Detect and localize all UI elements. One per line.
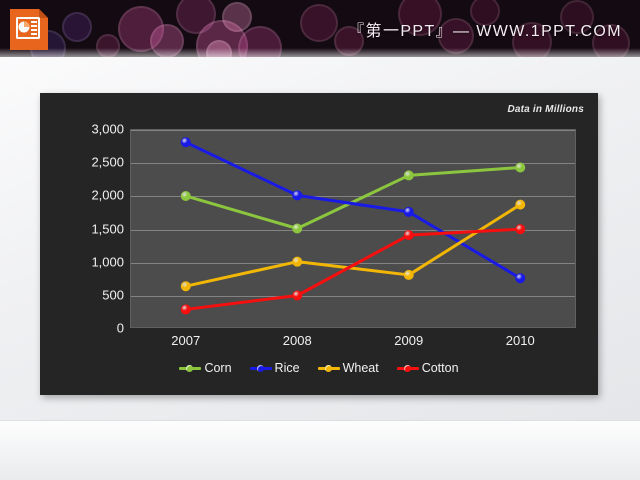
legend-label: Rice xyxy=(275,361,300,375)
legend-item-wheat[interactable]: Wheat xyxy=(318,361,379,375)
series-corn xyxy=(181,163,525,233)
series-line xyxy=(186,167,521,228)
data-point-marker[interactable] xyxy=(516,163,525,172)
data-point-marker[interactable] xyxy=(404,231,413,240)
data-point-marker[interactable] xyxy=(181,282,190,291)
data-point-marker[interactable] xyxy=(293,257,302,266)
y-axis-tick-label: 1,000 xyxy=(44,254,124,269)
data-point-marker[interactable] xyxy=(516,225,525,234)
chart-series-layer xyxy=(130,129,576,328)
data-point-marker[interactable] xyxy=(293,191,302,200)
legend-swatch-icon xyxy=(318,363,340,373)
data-point-marker[interactable] xyxy=(293,291,302,300)
legend-label: Cotton xyxy=(422,361,459,375)
data-point-marker[interactable] xyxy=(404,171,413,180)
legend-swatch-icon xyxy=(179,363,201,373)
y-axis-tick-label: 2,500 xyxy=(44,155,124,170)
x-axis-tick-label: 2007 xyxy=(171,333,200,348)
legend-item-rice[interactable]: Rice xyxy=(250,361,300,375)
data-point-marker[interactable] xyxy=(181,138,190,147)
chart-legend: CornRiceWheatCotton xyxy=(40,361,598,375)
y-axis-tick-label: 500 xyxy=(44,287,124,302)
powerpoint-logo-icon xyxy=(8,7,50,52)
y-axis-tick-label: 2,000 xyxy=(44,188,124,203)
legend-item-cotton[interactable]: Cotton xyxy=(397,361,459,375)
bokeh-circle xyxy=(222,2,252,32)
y-axis: 05001,0001,5002,0002,5003,000 xyxy=(40,129,124,328)
header-title: 『第一PPT』— WWW.1PPT.COM xyxy=(348,17,622,41)
bokeh-circle xyxy=(176,0,216,34)
data-point-marker[interactable] xyxy=(181,305,190,314)
x-axis-tick-label: 2009 xyxy=(394,333,423,348)
chart-watermark: Data in Millions xyxy=(507,104,584,115)
legend-swatch-icon xyxy=(250,363,272,373)
header-sheen xyxy=(0,48,640,57)
bokeh-circle xyxy=(118,6,164,52)
x-axis-tick-label: 2010 xyxy=(506,333,535,348)
legend-label: Corn xyxy=(204,361,231,375)
y-axis-tick-label: 1,500 xyxy=(44,221,124,236)
data-point-marker[interactable] xyxy=(404,270,413,279)
legend-swatch-icon xyxy=(397,363,419,373)
footer-banner: 第一PPT HTTP://WWW.1PPT.COM xyxy=(0,420,640,480)
legend-item-corn[interactable]: Corn xyxy=(179,361,231,375)
header-banner: 『第一PPT』— WWW.1PPT.COM xyxy=(0,0,640,57)
x-axis: 2007200820092010 xyxy=(130,333,576,355)
bokeh-circle xyxy=(300,4,338,42)
bokeh-circle xyxy=(62,12,92,42)
series-line xyxy=(186,205,521,287)
y-axis-tick-label: 0 xyxy=(44,321,124,336)
data-point-marker[interactable] xyxy=(293,224,302,233)
data-point-marker[interactable] xyxy=(516,274,525,283)
y-axis-tick-label: 3,000 xyxy=(44,122,124,137)
chart-panel: Data in Millions 05001,0001,5002,0002,50… xyxy=(40,93,598,395)
data-point-marker[interactable] xyxy=(516,200,525,209)
slide: 『第一PPT』— WWW.1PPT.COM Data in Millions 0… xyxy=(0,0,640,480)
legend-label: Wheat xyxy=(343,361,379,375)
series-wheat xyxy=(181,200,525,291)
data-point-marker[interactable] xyxy=(181,191,190,200)
x-axis-tick-label: 2008 xyxy=(283,333,312,348)
data-point-marker[interactable] xyxy=(404,207,413,216)
